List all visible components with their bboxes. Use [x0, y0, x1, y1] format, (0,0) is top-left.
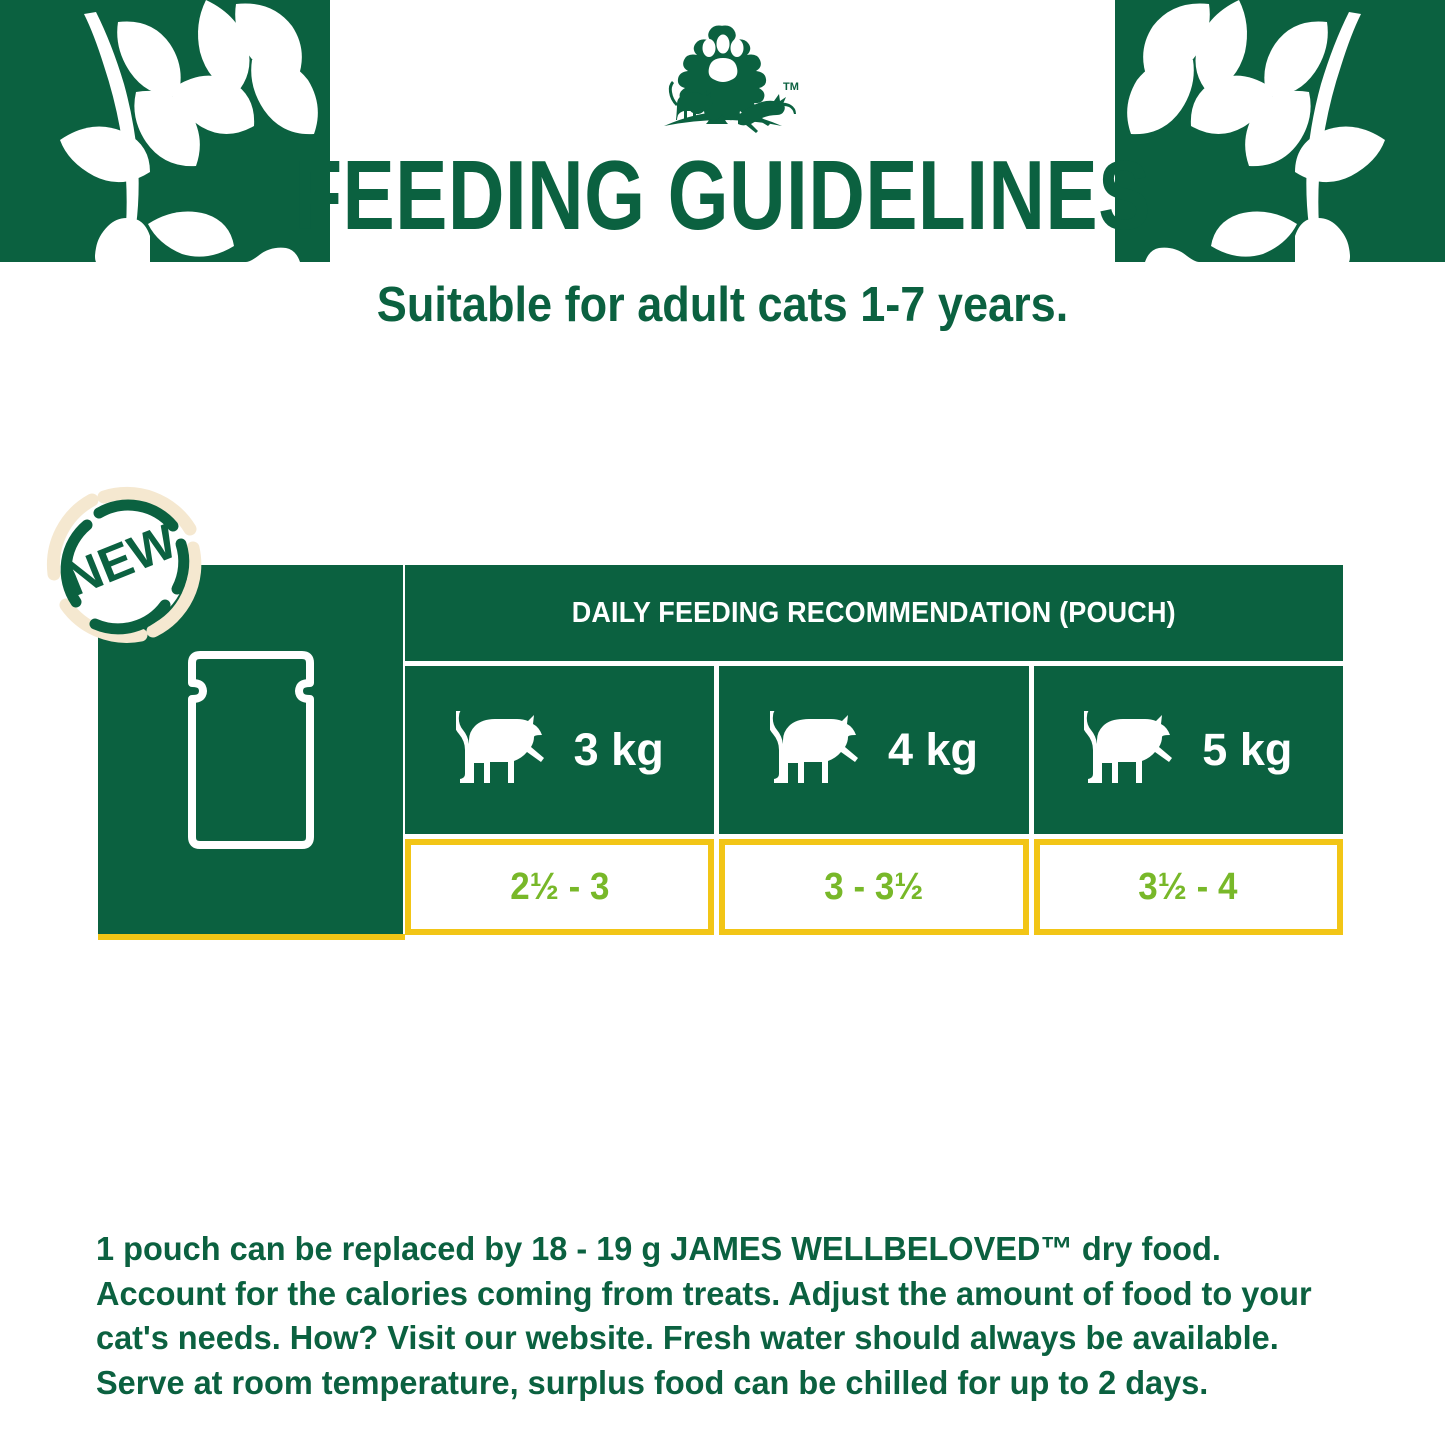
amount-label: 3½ - 4	[1139, 866, 1238, 909]
weight-cell-4kg: 4 kg	[719, 666, 1028, 834]
amount-row: 2½ - 3 3 - 3½ 3½ - 4	[405, 839, 1343, 935]
weight-row: 3 kg 4 kg	[405, 666, 1343, 834]
table-header: DAILY FEEDING RECOMMENDATION (POUCH)	[405, 565, 1343, 661]
recommendation-grid: DAILY FEEDING RECOMMENDATION (POUCH) 3 k…	[405, 565, 1343, 945]
weight-cell-5kg: 5 kg	[1034, 666, 1343, 834]
pouch-icon	[178, 645, 324, 855]
james-wellbeloved-logo-icon: TM	[638, 18, 808, 144]
amount-label: 3 - 3½	[824, 866, 923, 909]
weight-label: 4 kg	[888, 724, 978, 776]
amount-cell-5kg: 3½ - 4	[1034, 839, 1343, 935]
amount-cell-3kg: 2½ - 3	[405, 839, 714, 935]
amount-label: 2½ - 3	[510, 866, 609, 909]
amount-cell-4kg: 3 - 3½	[719, 839, 1028, 935]
svg-text:TM: TM	[783, 81, 799, 93]
pouch-panel-underline	[98, 934, 405, 940]
feeding-table: DAILY FEEDING RECOMMENDATION (POUCH) 3 k…	[98, 565, 1343, 945]
table-header-label: DAILY FEEDING RECOMMENDATION (POUCH)	[572, 597, 1176, 630]
weight-cell-3kg: 3 kg	[405, 666, 714, 834]
feeding-guidelines-page: TM FEEDING GUIDELINES Suitable for adult…	[0, 0, 1445, 1445]
weight-label: 3 kg	[574, 724, 664, 776]
cat-icon	[770, 711, 874, 789]
new-badge: NEW	[38, 478, 210, 650]
page-subtitle: Suitable for adult cats 1-7 years.	[58, 281, 1387, 330]
cat-icon	[1084, 711, 1188, 789]
weight-label: 5 kg	[1202, 724, 1292, 776]
cat-icon	[456, 711, 560, 789]
page-title: FEEDING GUIDELINES	[145, 146, 1301, 244]
footer-note: 1 pouch can be replaced by 18 - 19 g JAM…	[96, 1228, 1316, 1406]
